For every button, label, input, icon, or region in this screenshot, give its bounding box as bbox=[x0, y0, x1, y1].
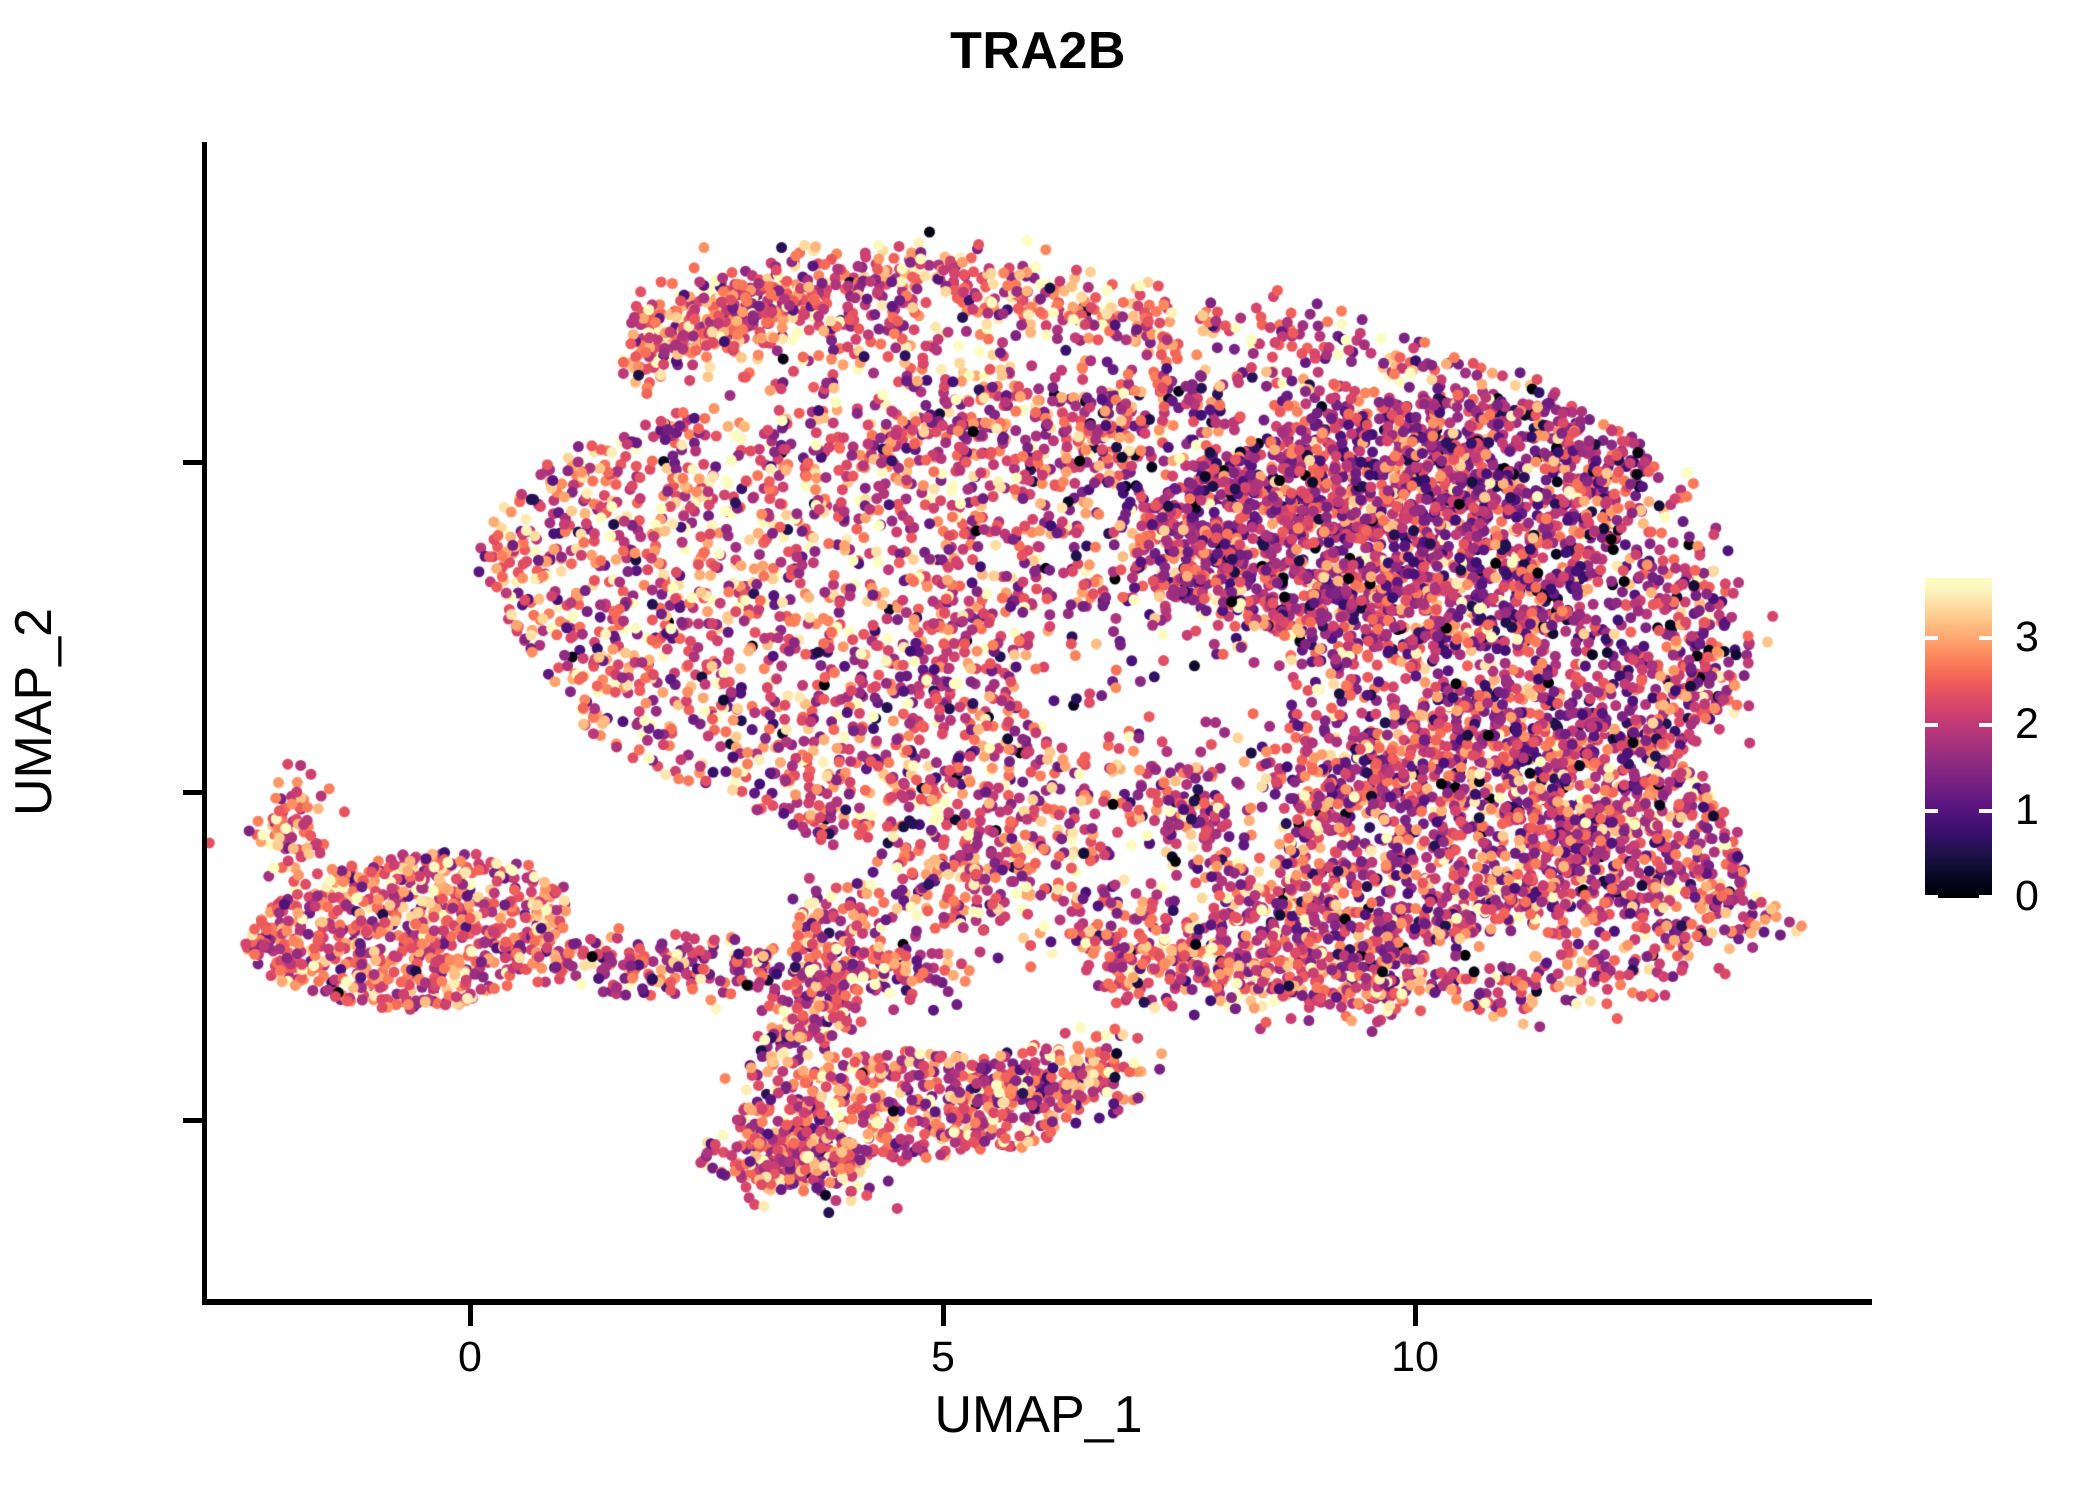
colorbar-tick-1-left bbox=[1925, 809, 1938, 813]
y-tick-mark-10 bbox=[183, 460, 204, 465]
x-tick-mark-10 bbox=[1413, 1305, 1418, 1326]
y-tick-mark-0 bbox=[183, 1118, 204, 1123]
colorbar-label-2: 2 bbox=[2015, 703, 2039, 746]
colorbar-tick-3-right bbox=[1979, 636, 1992, 640]
umap-feature-plot: TRA2B 10 5 0 0 5 10 UMAP_1 UMAP_2 3 2 1 … bbox=[0, 0, 2100, 1500]
scatter-plot-panel[interactable] bbox=[205, 142, 1872, 1302]
y-axis-title: UMAP_2 bbox=[4, 132, 64, 1292]
colorbar-label-3: 3 bbox=[2015, 616, 2039, 659]
x-axis-title: UMAP_1 bbox=[205, 1385, 1872, 1445]
colorbar-tick-2-left bbox=[1925, 723, 1938, 727]
colorbar-tick-1-right bbox=[1979, 809, 1992, 813]
y-axis-line bbox=[202, 142, 207, 1305]
colorbar-tick-0-right bbox=[1979, 895, 1992, 899]
colorbar-label-1: 1 bbox=[2015, 789, 2039, 832]
colorbar-tick-2-right bbox=[1979, 723, 1992, 727]
x-axis-line bbox=[202, 1299, 1872, 1305]
page-title: TRA2B bbox=[0, 22, 2088, 80]
colorbar-tick-3-left bbox=[1925, 636, 1938, 640]
x-tick-mark-0 bbox=[468, 1305, 473, 1326]
x-tick-label-0: 0 bbox=[370, 1336, 570, 1379]
colorbar-gradient bbox=[1925, 578, 1992, 898]
x-tick-mark-5 bbox=[941, 1305, 946, 1326]
x-tick-label-10: 10 bbox=[1315, 1336, 1515, 1379]
y-tick-mark-5 bbox=[183, 790, 204, 795]
scatter-points-canvas bbox=[205, 142, 1872, 1302]
colorbar-tick-0-left bbox=[1925, 895, 1938, 899]
colorbar-label-0: 0 bbox=[2015, 875, 2039, 918]
x-tick-label-5: 5 bbox=[843, 1336, 1043, 1379]
